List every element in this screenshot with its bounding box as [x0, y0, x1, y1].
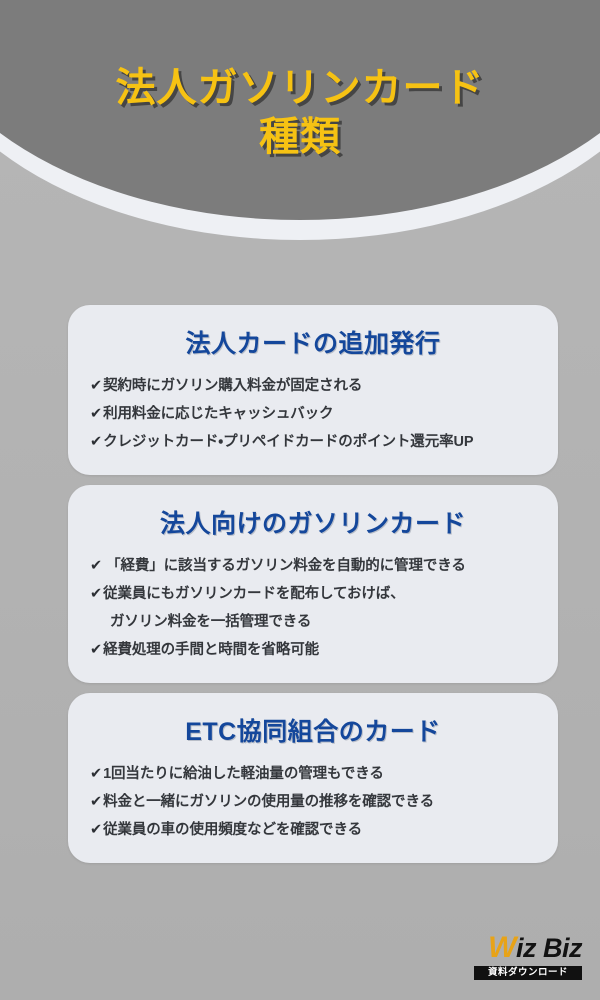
card-gasoline-card-for-corporations: 法人向けのガソリンカード ✔ 「経費」に該当するガソリン料金を自動的に管理できる… — [68, 485, 558, 683]
check-icon: ✔ — [90, 819, 102, 841]
list-item-label: 従業員にもガソリンカードを配布しておけば、 — [103, 583, 536, 605]
bullet-list: ✔ 「経費」に該当するガソリン料金を自動的に管理できる ✔ 従業員にもガソリンカ… — [90, 555, 536, 661]
list-item: ✔ 料金と一緒にガソリンの使用量の推移を確認できる — [90, 791, 536, 813]
card-list: 法人カードの追加発行 ✔ 契約時にガソリン購入料金が固定される ✔ 利用料金に応… — [68, 305, 558, 873]
list-item-label: 契約時にガソリン購入料金が固定される — [103, 375, 536, 397]
list-item: ✔ 「経費」に該当するガソリン料金を自動的に管理できる — [90, 555, 536, 577]
list-item: ✔ クレジットカード・プリペイドカードのポイント還元率UP — [90, 431, 536, 453]
list-item: ✔ 経費処理の手間と時間を省略可能 — [90, 639, 536, 661]
check-icon: ✔ — [90, 639, 102, 661]
logo-wordmark: Wiz Biz — [474, 933, 582, 963]
list-item-continuation: ガソリン料金を一括管理できる — [90, 611, 536, 633]
card-corporate-card-additional-issue: 法人カードの追加発行 ✔ 契約時にガソリン購入料金が固定される ✔ 利用料金に応… — [68, 305, 558, 475]
check-icon: ✔ — [90, 763, 102, 785]
check-icon: ✔ — [90, 431, 102, 453]
list-item-label: 経費処理の手間と時間を省略可能 — [103, 639, 536, 661]
header-banner: 法人ガソリンカード 種類 — [0, 0, 600, 270]
list-item-label: 利用料金に応じたキャッシュバック — [103, 403, 536, 425]
list-item-label: ガソリン料金を一括管理できる — [110, 611, 536, 633]
list-item: ✔ 契約時にガソリン購入料金が固定される — [90, 375, 536, 397]
card-etc-cooperative-card: ETC協同組合のカード ✔ 1回当たりに給油した軽油量の管理もできる ✔ 料金と… — [68, 693, 558, 863]
infographic-page: 法人ガソリンカード 種類 法人カードの追加発行 ✔ 契約時にガソリン購入料金が固… — [0, 0, 600, 1000]
bullet-list: ✔ 契約時にガソリン購入料金が固定される ✔ 利用料金に応じたキャッシュバック … — [90, 375, 536, 453]
wizbiz-logo: Wiz Biz 資料ダウンロード — [474, 933, 582, 981]
list-item-label: 料金と一緒にガソリンの使用量の推移を確認できる — [103, 791, 536, 813]
logo-subtitle: 資料ダウンロード — [474, 966, 582, 981]
list-item-label: 従業員の車の使用頻度などを確認できる — [103, 819, 536, 841]
check-icon: ✔ — [90, 583, 102, 605]
logo-text: iz Biz — [516, 933, 582, 963]
check-icon: ✔ — [90, 403, 102, 425]
list-item: ✔ 従業員の車の使用頻度などを確認できる — [90, 819, 536, 841]
header-content: 法人ガソリンカード 種類 — [0, 0, 600, 220]
list-item-label: 1回当たりに給油した軽油量の管理もできる — [103, 763, 536, 785]
card-title: 法人向けのガソリンカード — [90, 509, 536, 539]
card-title: 法人カードの追加発行 — [90, 329, 536, 359]
list-item: ✔ 1回当たりに給油した軽油量の管理もできる — [90, 763, 536, 785]
check-icon: ✔ — [90, 791, 102, 813]
check-icon: ✔ — [90, 555, 102, 577]
list-item: ✔ 利用料金に応じたキャッシュバック — [90, 403, 536, 425]
list-item: ✔ 従業員にもガソリンカードを配布しておけば、 — [90, 583, 536, 605]
logo-initial: W — [488, 931, 516, 964]
list-item-label: 「経費」に該当するガソリン料金を自動的に管理できる — [106, 555, 536, 577]
page-title: 法人ガソリンカード 種類 — [116, 64, 485, 162]
card-title: ETC協同組合のカード — [90, 717, 536, 747]
bullet-list: ✔ 1回当たりに給油した軽油量の管理もできる ✔ 料金と一緒にガソリンの使用量の… — [90, 763, 536, 841]
check-icon: ✔ — [90, 375, 102, 397]
list-item-label: クレジットカード・プリペイドカードのポイント還元率UP — [103, 431, 536, 453]
